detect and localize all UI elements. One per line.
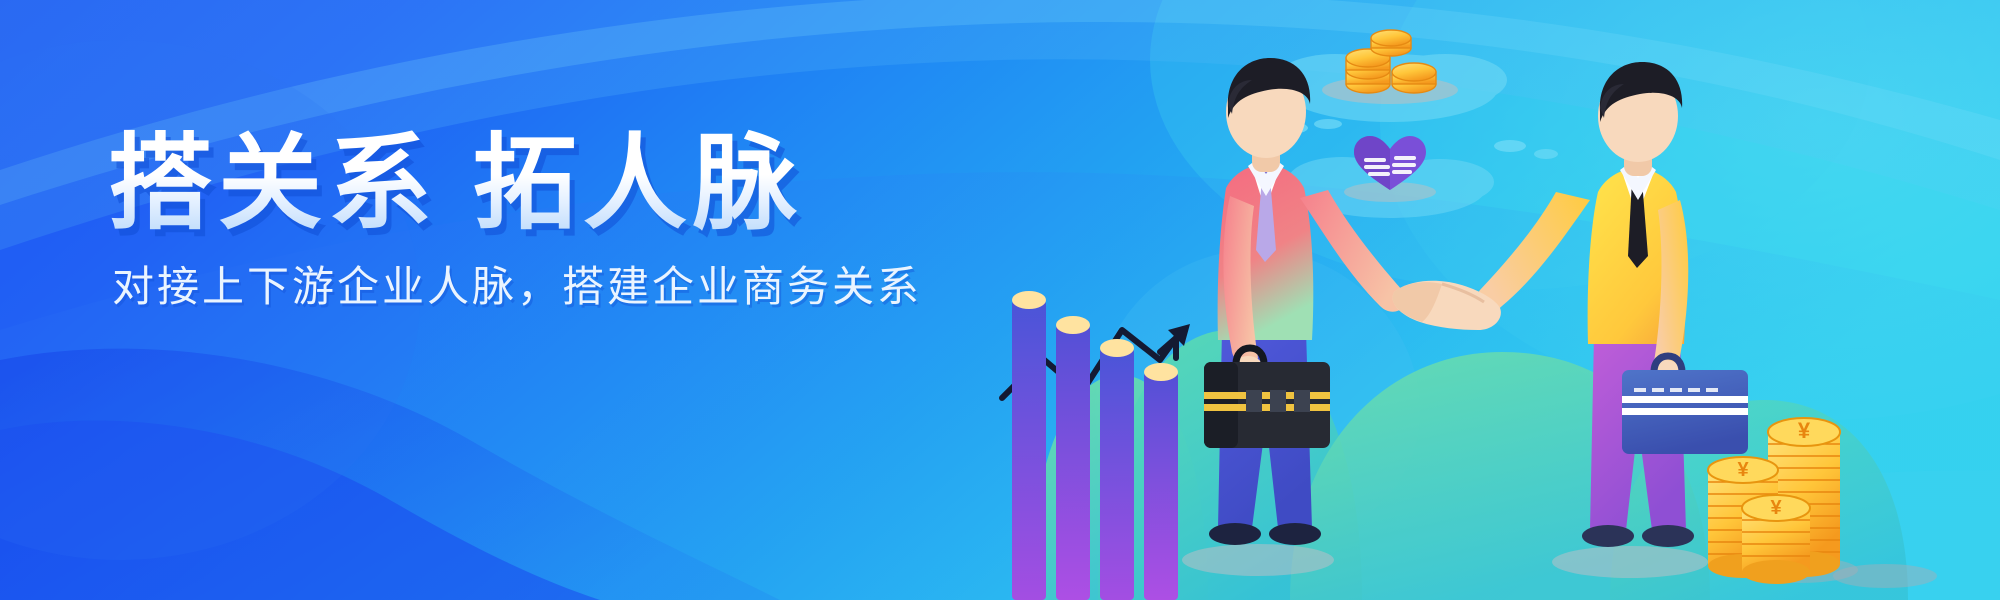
cloud-wisp — [1494, 140, 1526, 152]
blue-briefcase — [1622, 356, 1748, 454]
shoe — [1642, 525, 1694, 547]
black-briefcase — [1204, 348, 1330, 448]
coin-stack: ¥ — [1742, 495, 1810, 584]
promo-banner: 搭关系 拓人脉 对接上下游企业人脉，搭建企业商务关系 — [0, 0, 2000, 600]
cloud-wisp — [1534, 149, 1558, 159]
shoe — [1582, 525, 1634, 547]
cloud-wisp — [1314, 119, 1342, 129]
coin-shadow — [1833, 564, 1937, 588]
shoe — [1209, 523, 1261, 545]
shoe — [1269, 523, 1321, 545]
page-title: 搭关系 拓人脉 — [108, 128, 968, 240]
banner-subtitle: 对接上下游企业人脉，搭建企业商务关系 — [112, 262, 968, 312]
coin-currency-symbol: ¥ — [1737, 459, 1749, 481]
handshake-illustration: ¥ ¥ — [990, 0, 2000, 600]
figure-shadow — [1182, 544, 1334, 576]
coin-currency-symbol: ¥ — [1798, 418, 1811, 443]
coin-currency-symbol: ¥ — [1770, 497, 1782, 519]
banner-copy: 搭关系 拓人脉 对接上下游企业人脉，搭建企业商务关系 — [108, 128, 968, 313]
figure-shadow — [1552, 546, 1708, 578]
